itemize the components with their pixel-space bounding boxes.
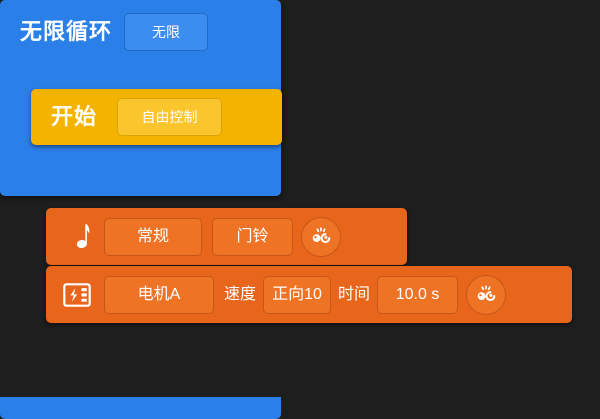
run-eyes-icon[interactable] <box>301 217 341 257</box>
run-eyes-icon[interactable] <box>466 275 506 315</box>
sound-category-field[interactable]: 常规 <box>104 218 202 256</box>
block-editor-canvas: 开始 自由控制 无限循环 无限 常规 门铃 <box>0 0 600 419</box>
forever-loop-label: 无限循环 <box>20 21 112 43</box>
play-sound-block[interactable]: 常规 门铃 <box>46 208 407 265</box>
motor-port-field[interactable]: 电机A <box>104 276 214 314</box>
motor-time-label: 时间 <box>338 287 370 303</box>
motor-speed-field[interactable]: 正向10 <box>263 276 331 314</box>
start-block-label: 开始 <box>51 106 97 128</box>
start-block[interactable]: 开始 自由控制 <box>31 89 282 145</box>
motor-time-field[interactable]: 10.0 s <box>377 276 458 314</box>
forever-loop-footer <box>0 397 281 419</box>
forever-loop-header[interactable]: 无限循环 无限 <box>0 0 281 63</box>
motor-icon <box>60 278 94 312</box>
motor-speed-label: 速度 <box>224 287 256 303</box>
sound-name-field[interactable]: 门铃 <box>212 218 293 256</box>
music-note-icon <box>60 220 94 254</box>
forever-loop-count-field[interactable]: 无限 <box>124 13 208 51</box>
motor-run-block[interactable]: 电机A 速度 正向10 时间 10.0 s <box>46 266 572 323</box>
start-mode-field[interactable]: 自由控制 <box>117 98 222 136</box>
